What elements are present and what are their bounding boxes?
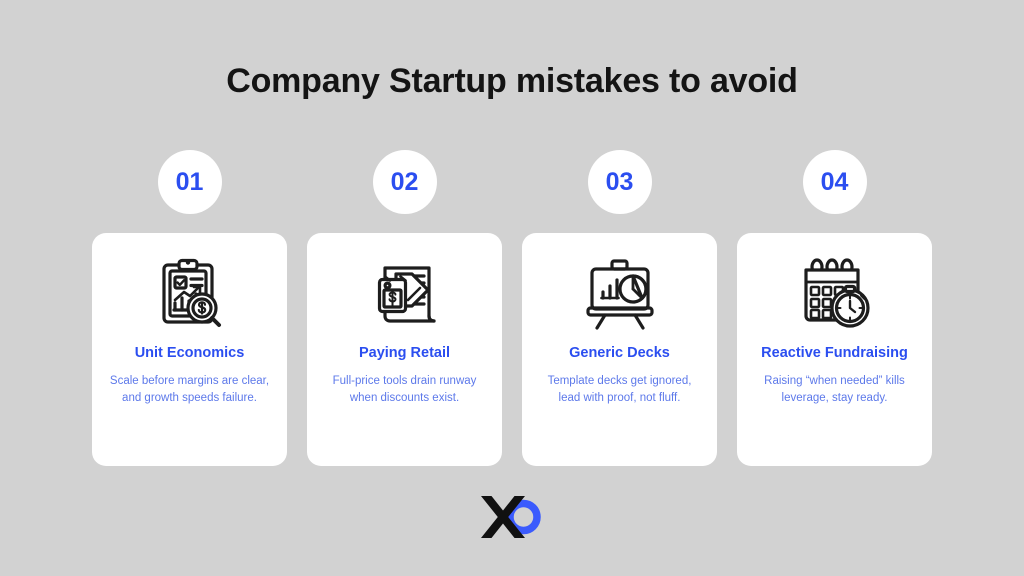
xo-logo [475,492,549,538]
card-description-3: Template decks get ignored, lead with pr… [536,373,703,406]
card-reactive-fundraising[interactable]: Reactive Fundraising Raising “when neede… [737,233,932,466]
card-title-1: Unit Economics [135,345,245,362]
step-badge-2: 02 [373,150,437,214]
step-badge-1: 01 [158,150,222,214]
card-generic-decks[interactable]: Generic Decks Template decks get ignored… [522,233,717,466]
card-column-3: 03 [522,150,717,466]
page-title: Company Startup mistakes to avoid [0,62,1024,101]
card-column-1: 01 [92,150,287,466]
card-paying-retail[interactable]: Paying Retail Full-price tools drain run… [307,233,502,466]
card-description-2: Full-price tools drain runway when disco… [321,373,488,406]
card-title-4: Reactive Fundraising [761,345,908,362]
step-number-1: 01 [176,168,204,197]
footer-logo [0,492,1024,538]
card-title-3: Generic Decks [569,345,670,362]
card-column-2: 02 [307,150,502,466]
price-tag-document-icon [368,255,442,331]
step-number-4: 04 [821,168,849,197]
card-column-4: 04 [737,150,932,466]
card-title-2: Paying Retail [359,345,450,362]
card-description-4: Raising “when needed” kills leverage, st… [751,373,918,406]
cards-row: 01 [92,150,932,466]
calendar-stopwatch-icon [796,255,874,331]
presentation-board-charts-icon [581,255,659,331]
step-number-2: 02 [391,168,419,197]
clipboard-chart-magnifier-dollar-icon [153,255,227,331]
card-unit-economics[interactable]: Unit Economics Scale before margins are … [92,233,287,466]
step-number-3: 03 [606,168,634,197]
step-badge-3: 03 [588,150,652,214]
step-badge-4: 04 [803,150,867,214]
card-description-1: Scale before margins are clear, and grow… [106,373,273,406]
